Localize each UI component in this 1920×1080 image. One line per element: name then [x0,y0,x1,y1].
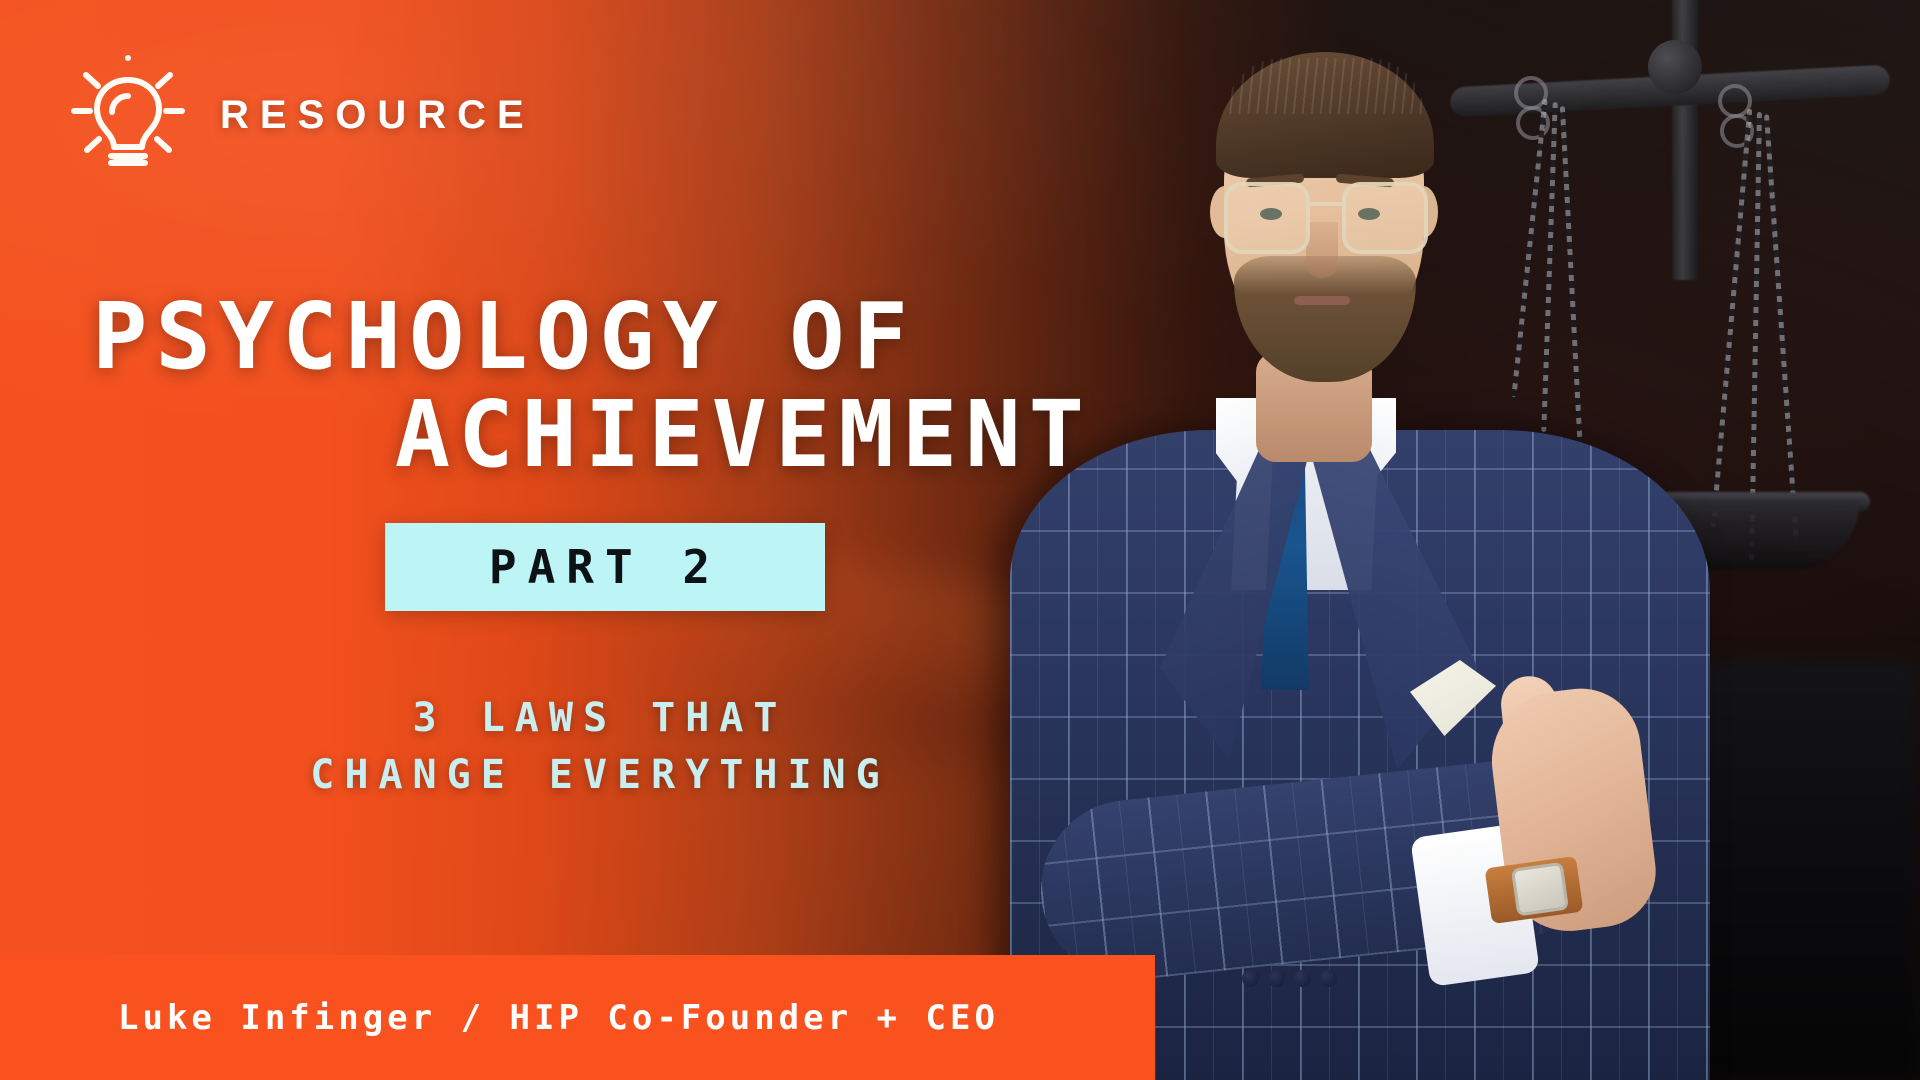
title-line-1: PSYCHOLOGY OF [92,288,1102,386]
lightbulb-icon [70,52,186,178]
resource-banner: RESOURCE PSYCHOLOGY OF ACHIEVEMENT PART … [0,0,1920,1080]
subtitle: 3 LAWS THAT CHANGE EVERYTHING [180,690,1020,804]
subtitle-line-1: 3 LAWS THAT [180,690,1020,747]
part-badge-label: PART 2 [489,540,721,594]
banner-content: RESOURCE PSYCHOLOGY OF ACHIEVEMENT PART … [0,0,1920,1080]
subtitle-line-2: CHANGE EVERYTHING [180,747,1020,804]
eyebrow-row: RESOURCE [70,52,535,178]
page-title: PSYCHOLOGY OF ACHIEVEMENT [92,288,1102,485]
speaker-credit: Luke Infinger / HIP Co-Founder + CEO [118,998,999,1038]
part-badge: PART 2 [385,523,825,611]
footer-bar: Luke Infinger / HIP Co-Founder + CEO [0,955,1155,1080]
eyebrow-label: RESOURCE [220,93,535,138]
title-line-2: ACHIEVEMENT [92,386,1102,484]
